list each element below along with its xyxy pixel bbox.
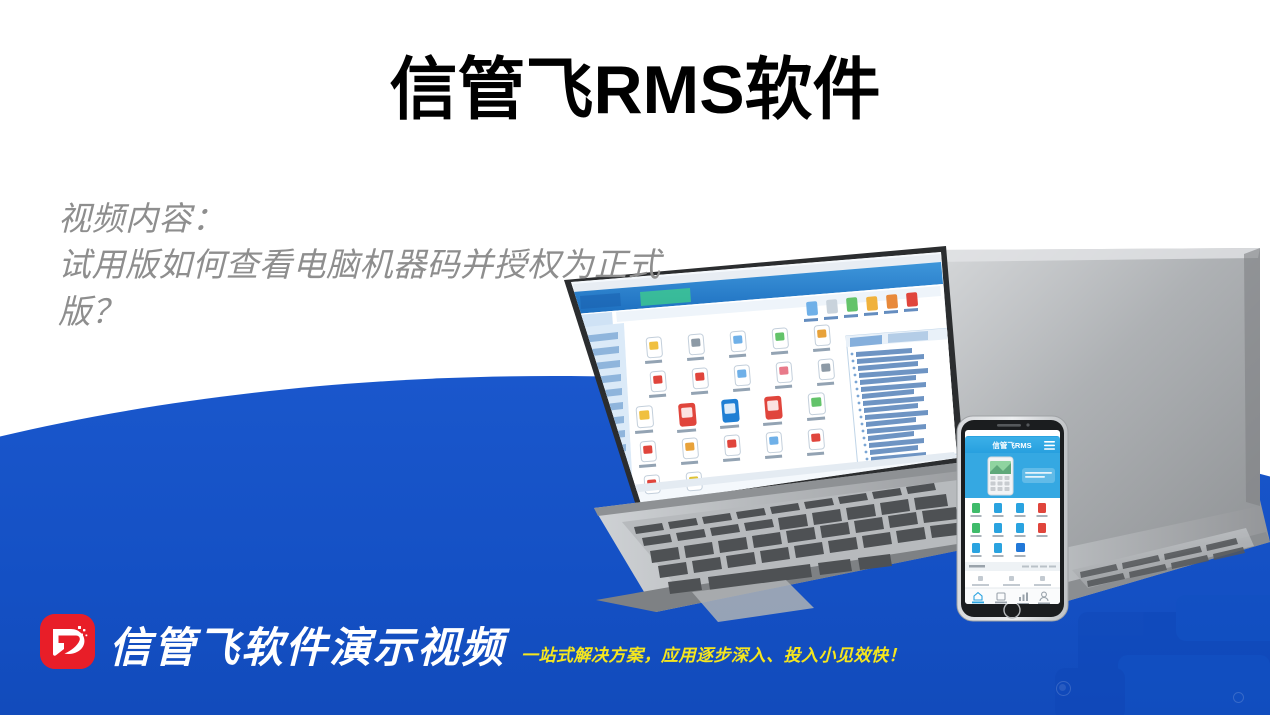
svg-text:信管飞RMS: 信管飞RMS [992, 440, 1031, 450]
smartphone: 信管飞RMS [957, 416, 1068, 621]
page-title: 信管飞RMS软件 [0, 52, 1270, 128]
video-content-label: 视频内容： [58, 196, 718, 241]
deco-dot-2 [1059, 684, 1066, 691]
video-content-body: 试用版如何查看电脑机器码并授权为正式版？ [58, 241, 718, 335]
bird-logo-icon [40, 614, 95, 669]
brand-tagline: 一站式解决方案，应用逐步深入、投入小见效快！ [521, 641, 906, 666]
brand-bar: 信管飞软件演示视频 一站式解决方案，应用逐步深入、投入小见效快！ [40, 614, 906, 673]
screen-right-panel [846, 328, 957, 468]
video-content-block: 视频内容： 试用版如何查看电脑机器码并授权为正式版？ [58, 196, 718, 335]
slide-root: 信管飞RMS [0, 0, 1270, 715]
brand-name: 信管飞软件演示视频 [109, 623, 505, 673]
deco-dot-3 [1233, 692, 1244, 703]
